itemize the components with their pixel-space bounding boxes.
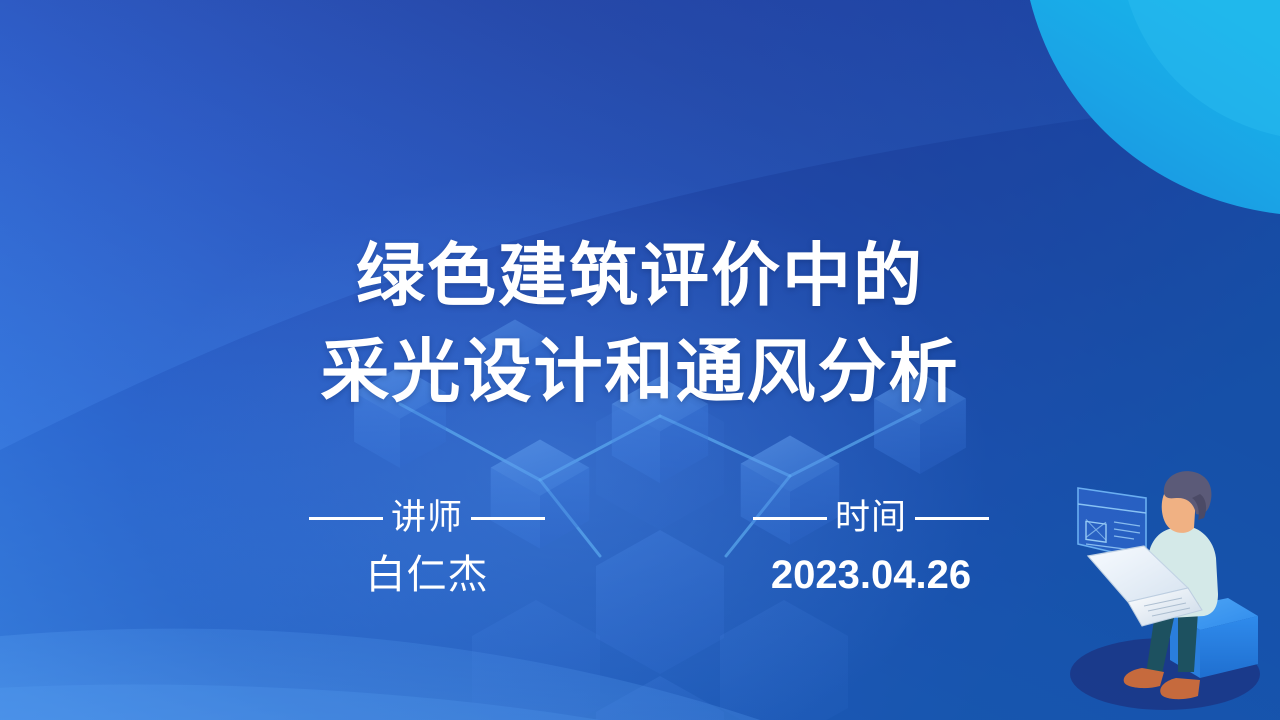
title-line-1: 绿色建筑评价中的 xyxy=(0,228,1280,324)
person-sitting-with-laptop-illustration xyxy=(1062,460,1272,720)
presenter-name: 白仁杰 xyxy=(262,548,592,602)
figure-head xyxy=(1162,471,1212,533)
presenter-label: 讲师 xyxy=(391,496,463,540)
rule-left-icon xyxy=(753,517,827,520)
presenter-header: 讲师 xyxy=(262,496,592,540)
page-title: 绿色建筑评价中的 采光设计和通风分析 xyxy=(0,228,1280,420)
date-header: 时间 xyxy=(706,496,1036,540)
date-block: 时间 2023.04.26 xyxy=(706,496,1036,602)
title-line-2: 采光设计和通风分析 xyxy=(0,324,1280,420)
presenter-block: 讲师 白仁杰 xyxy=(262,496,592,602)
rule-right-icon xyxy=(915,517,989,520)
meta-row: 讲师 白仁杰 时间 2023.04.26 xyxy=(252,496,1042,602)
rule-right-icon xyxy=(471,517,545,520)
rule-left-icon xyxy=(309,517,383,520)
date-label: 时间 xyxy=(835,496,907,540)
title-slide: 绿色建筑评价中的 采光设计和通风分析 讲师 白仁杰 时间 2023.04.26 xyxy=(0,0,1280,720)
date-value: 2023.04.26 xyxy=(706,548,1036,602)
